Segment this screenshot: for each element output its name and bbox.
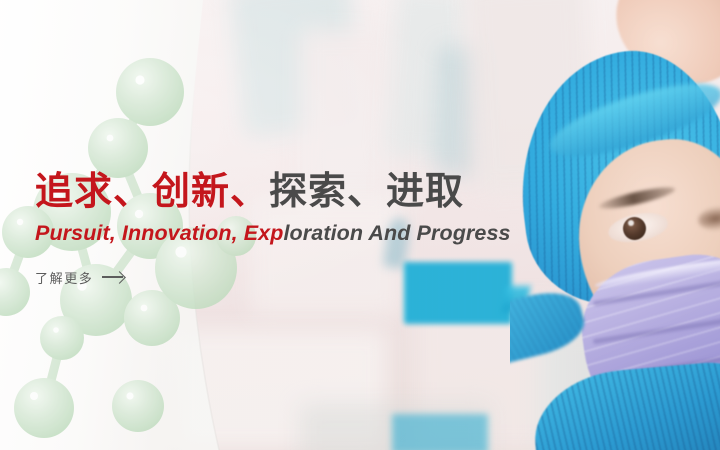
headline-accent-text: 追求、创新、 (35, 171, 269, 213)
subtitle-accent-text: Pursuit, Innovation, Exp (35, 221, 283, 245)
learn-more-label: 了解更多 (35, 268, 93, 287)
learn-more-button[interactable]: 了解更多 (35, 268, 128, 287)
hero-banner: 追求、创新、探索、进取 Pursuit, Innovation, Explora… (0, 0, 720, 450)
arrow-right-icon (102, 271, 128, 283)
hero-copy-block: 追求、创新、探索、进取 Pursuit, Innovation, Explora… (35, 172, 675, 288)
page-title: 追求、创新、探索、进取 (35, 172, 675, 213)
headline-neutral-text: 探索、进取 (269, 171, 464, 213)
lab-gown (530, 358, 720, 450)
pipette-tip-rack (392, 414, 488, 450)
page-subtitle: Pursuit, Innovation, Exploration And Pro… (35, 222, 675, 246)
subtitle-neutral-text: loration And Progress (283, 221, 510, 245)
